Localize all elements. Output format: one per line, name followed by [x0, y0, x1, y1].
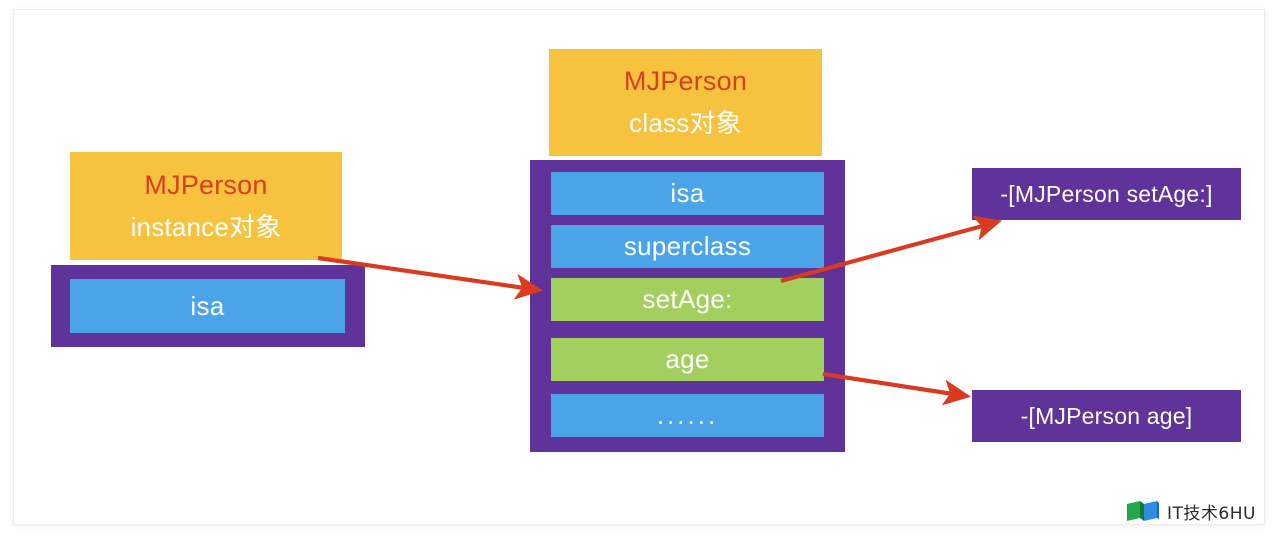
instance-object-header: MJPerson instance对象 [70, 152, 342, 260]
class-row-ellipsis: ...... [551, 394, 824, 437]
instance-row-isa-label: isa [190, 291, 224, 322]
method-label-setage-text: -[MJPerson setAge:] [1000, 181, 1212, 208]
instance-row-isa: isa [70, 279, 345, 333]
class-row-superclass: superclass [551, 225, 824, 268]
instance-object-subtitle: instance对象 [131, 213, 282, 243]
class-row-isa: isa [551, 172, 824, 215]
class-row-setage: setAge: [551, 278, 824, 321]
class-object-header: MJPerson class对象 [549, 49, 822, 156]
class-row-superclass-label: superclass [624, 231, 751, 262]
books-logo-icon [1126, 498, 1160, 524]
method-label-age-text: -[MJPerson age] [1021, 403, 1193, 430]
class-object-subtitle: class对象 [629, 109, 742, 139]
class-row-ellipsis-label: ...... [657, 400, 718, 431]
watermark-text: IT技术6HU [1167, 499, 1256, 524]
watermark: IT技术6HU [1126, 498, 1256, 524]
class-row-setage-label: setAge: [642, 284, 732, 315]
class-object-title: MJPerson [624, 66, 747, 97]
instance-object-title: MJPerson [144, 170, 267, 201]
method-label-age: -[MJPerson age] [972, 390, 1241, 442]
method-label-setage: -[MJPerson setAge:] [972, 168, 1241, 220]
class-row-age-label: age [665, 344, 709, 375]
class-row-age: age [551, 338, 824, 381]
class-row-isa-label: isa [670, 178, 704, 209]
diagram-canvas: MJPerson instance对象 isa MJPerson class对象… [0, 0, 1280, 536]
